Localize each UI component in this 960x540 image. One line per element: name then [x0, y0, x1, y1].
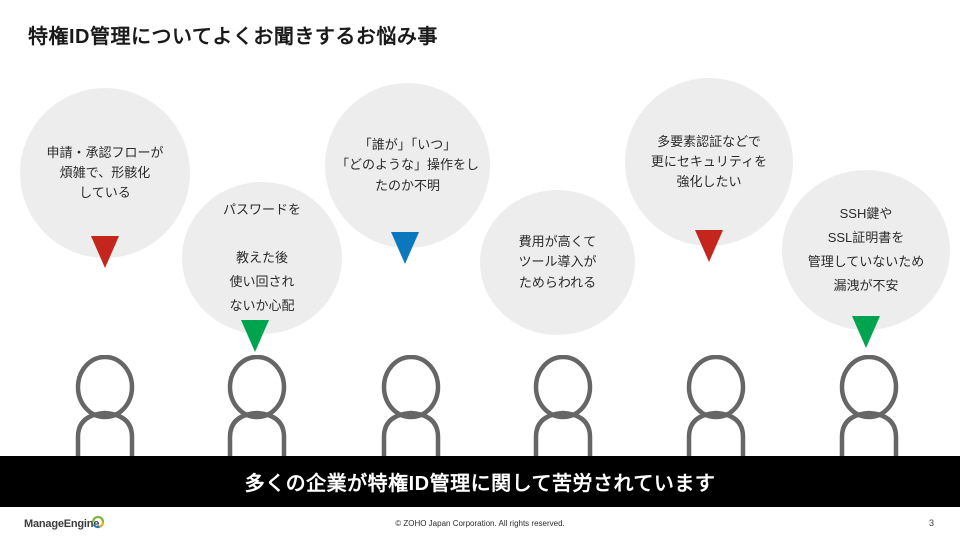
pointer-green-1	[241, 320, 269, 352]
concern-bubble-3-text: 「誰が」「いつ」 「どのような」操作をし たのか不明	[330, 135, 485, 195]
person-icon-2	[230, 357, 284, 465]
page-number: 3	[929, 518, 934, 528]
concern-bubble-5: 多要素認証などで 更にセキュリティを 強化したい	[625, 78, 793, 246]
concern-bubble-3: 「誰が」「いつ」 「どのような」操作をし たのか不明	[325, 83, 490, 248]
concern-bubble-2: パスワードを 教えた後 使い回され ないか心配	[182, 182, 342, 334]
concern-bubble-6-text: SSH鍵や SSL証明書を 管理していないため 漏洩が不安	[802, 202, 931, 298]
person-icon-3	[384, 357, 438, 465]
summary-banner-text: 多くの企業が特権ID管理に関して苦労されています	[245, 467, 716, 496]
pointer-red-1	[91, 236, 119, 268]
copyright-text: © ZOHO Japan Corporation. All rights res…	[0, 519, 960, 528]
slide-footer: ManageEngine © ZOHO Japan Corporation. A…	[0, 507, 960, 540]
concern-bubble-6: SSH鍵や SSL証明書を 管理していないため 漏洩が不安	[782, 170, 950, 330]
concern-bubble-1: 申請・承認フローが 煩雑で、形骸化 している	[20, 88, 190, 258]
concern-bubble-1-text: 申請・承認フローが 煩雑で、形骸化 している	[40, 143, 169, 203]
people-row	[0, 355, 960, 465]
pointer-green-2	[852, 316, 880, 348]
concern-bubble-5-text: 多要素認証などで 更にセキュリティを 強化したい	[645, 132, 773, 192]
summary-banner: 多くの企業が特権ID管理に関して苦労されています	[0, 456, 960, 507]
pointer-red-2	[695, 230, 723, 262]
person-icon-5	[689, 357, 743, 465]
page-title: 特権ID管理についてよくお聞きするお悩み事	[28, 20, 438, 49]
person-icon-4	[536, 357, 590, 465]
concern-bubble-4: 費用が高くて ツール導入が ためらわれる	[480, 190, 635, 335]
person-icon-1	[78, 357, 132, 465]
concern-bubble-2-text: パスワードを 教えた後 使い回され ないか心配	[217, 198, 307, 318]
pointer-blue-1	[391, 232, 419, 264]
concern-bubble-4-text: 費用が高くて ツール導入が ためらわれる	[512, 232, 602, 292]
slide-canvas: 特権ID管理についてよくお聞きするお悩み事 申請・承認フローが 煩雑で、形骸化 …	[0, 0, 960, 540]
person-icon-6	[842, 357, 896, 465]
